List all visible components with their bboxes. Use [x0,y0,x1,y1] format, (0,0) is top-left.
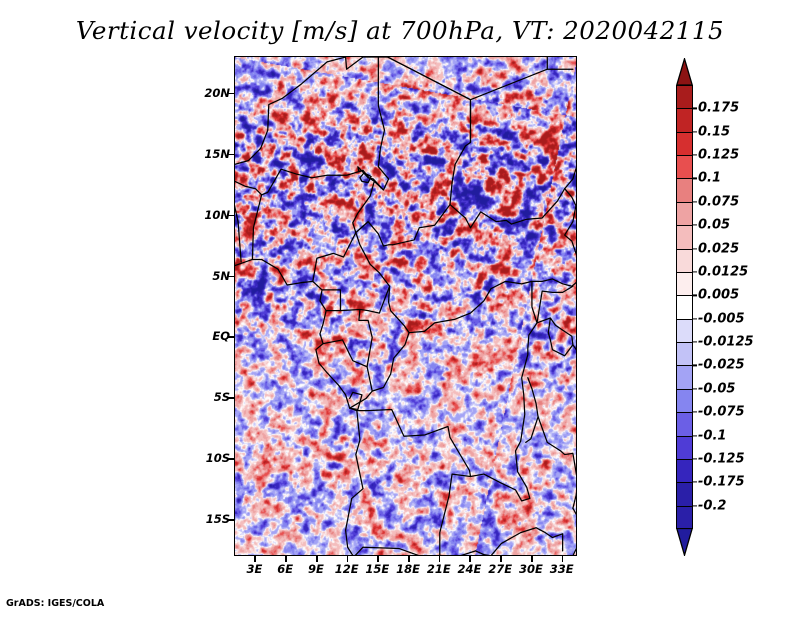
colorbar-label: 0.15 [698,124,730,139]
colorbar-segment [677,273,692,296]
colorbar-segments [676,85,693,529]
lon-label-33e: 33E [550,562,574,576]
colorbar-tick [693,271,697,272]
colorbar-label: -0.2 [698,498,726,513]
lon-tick-6e [285,556,287,562]
page-title: Vertical velocity [m/s] at 700hPa, VT: 2… [0,16,800,45]
lon-label-3e: 3E [247,562,263,576]
colorbar-label: 0.025 [698,241,739,256]
colorbar-tick [693,365,697,366]
lat-label-10s: 10S [206,451,230,465]
colorbar-tick [693,505,697,506]
colorbar-segment [677,483,692,506]
colorbar-tick [693,178,697,179]
lat-tick-5n [228,276,234,278]
colorbar-segment [677,179,692,202]
colorbar-label: -0.075 [698,405,745,420]
lon-label-21e: 21E [427,562,451,576]
lon-label-15e: 15E [365,562,389,576]
colorbar-segment [677,226,692,249]
colorbar-tick [693,341,697,342]
lat-label-20n: 20N [204,86,230,100]
lon-tick-33e [562,556,564,562]
lat-tick-10n [228,215,234,217]
colorbar: 0.1750.150.1250.10.0750.050.0250.01250.0… [676,58,693,556]
colorbar-tick [693,108,697,109]
colorbar-label: -0.0125 [698,335,754,350]
colorbar-tick [693,435,697,436]
lon-label-30e: 30E [519,562,543,576]
lat-tick-15s [228,519,234,521]
lon-tick-21e [439,556,441,562]
colorbar-segment [677,296,692,319]
colorbar-segment [677,250,692,273]
colorbar-label: -0.025 [698,358,745,373]
colorbar-label: 0.125 [698,148,739,163]
colorbar-segment [677,343,692,366]
colorbar-tick [693,458,697,459]
colorbar-tick [693,318,697,319]
colorbar-segment [677,203,692,226]
colorbar-arrow-max [676,58,693,85]
colorbar-label: 0.175 [698,101,739,116]
colorbar-label: -0.175 [698,475,745,490]
colorbar-label: -0.05 [698,381,735,396]
colorbar-segment [677,437,692,460]
lat-label-15s: 15S [206,512,230,526]
colorbar-tick [693,131,697,132]
colorbar-segment [677,109,692,132]
colorbar-tick [693,388,697,389]
vertical-velocity-field [235,57,576,555]
lon-tick-9e [316,556,318,562]
lon-label-12e: 12E [335,562,359,576]
longitude-axis-labels: 3E6E9E12E15E18E21E24E27E30E33E [234,560,577,582]
colorbar-label: 0.1 [698,171,721,186]
lon-tick-12e [347,556,349,562]
colorbar-tick [693,248,697,249]
lon-label-24e: 24E [458,562,482,576]
colorbar-label: 0.05 [698,218,730,233]
colorbar-segment [677,460,692,483]
grads-attribution: GrADS: IGES/COLA [6,598,104,609]
colorbar-label: -0.005 [698,311,745,326]
lat-label-10n: 10N [204,208,230,222]
colorbar-tick [693,225,697,226]
colorbar-label: 0.0125 [698,264,748,279]
lat-tick-20n [228,93,234,95]
lon-tick-24e [469,556,471,562]
latitude-axis-labels: 20N15N10N5NEQ5S10S15S [190,56,230,556]
lon-tick-27e [500,556,502,562]
lon-tick-3e [254,556,256,562]
colorbar-arrow-min [676,528,693,556]
vertical-velocity-raster [235,57,577,556]
colorbar-label: 0.075 [698,194,739,209]
lat-label-15n: 15N [204,147,230,161]
lat-tick-10s [228,458,234,460]
lon-label-6e: 6E [277,562,293,576]
lon-label-18e: 18E [396,562,420,576]
colorbar-segment [677,86,692,109]
lat-tick-5s [228,397,234,399]
colorbar-segment [677,366,692,389]
map-plot-frame [234,56,577,556]
lon-label-27e: 27E [488,562,512,576]
lat-tick-eq [228,336,234,338]
colorbar-tick [693,482,697,483]
colorbar-label: -0.125 [698,451,745,466]
colorbar-segment [677,320,692,343]
colorbar-segment [677,133,692,156]
lon-label-9e: 9E [308,562,324,576]
lon-tick-18e [408,556,410,562]
colorbar-label: -0.1 [698,428,726,443]
colorbar-segment [677,507,692,530]
lon-tick-15e [377,556,379,562]
colorbar-tick [693,412,697,413]
lon-tick-30e [531,556,533,562]
colorbar-tick [693,201,697,202]
lat-tick-15n [228,154,234,156]
colorbar-label: 0.005 [698,288,739,303]
colorbar-segment [677,156,692,179]
colorbar-tick [693,295,697,296]
colorbar-tick [693,155,697,156]
colorbar-segment [677,390,692,413]
colorbar-segment [677,413,692,436]
